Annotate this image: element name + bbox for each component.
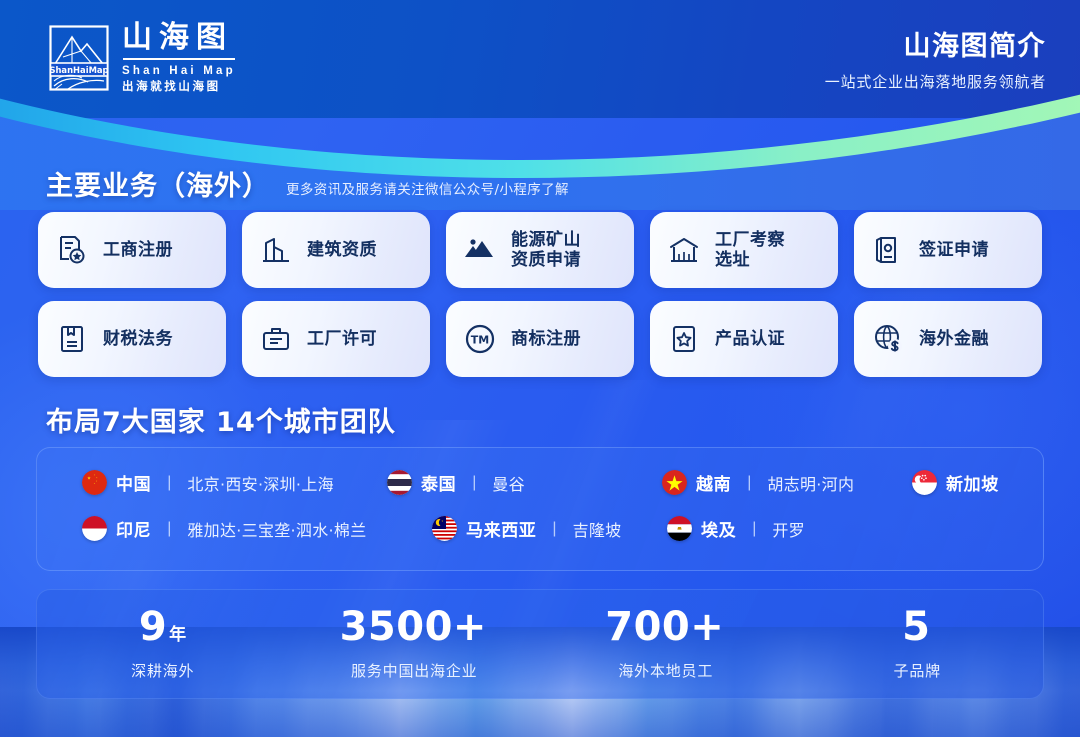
flag-china-icon — [82, 470, 107, 495]
country-row: 印尼 | 雅加达·三宝垄·泗水·棉兰 — [82, 516, 805, 541]
flag-singapore-icon — [912, 470, 937, 495]
country-separator: | — [752, 520, 756, 538]
stat-item-clients: 3500+ 服务中国出海企业 — [289, 607, 541, 681]
flag-indonesia-icon — [82, 516, 107, 541]
service-card-energy-mining-qualification[interactable]: 能源矿山 资质申请 — [446, 212, 634, 288]
service-card-tax-legal[interactable]: 财税法务 — [38, 301, 226, 377]
service-card-label: 财税法务 — [103, 329, 173, 349]
stat-number: 9年 — [37, 607, 289, 647]
service-card-label: 产品认证 — [715, 329, 785, 349]
service-card-trademark-registration[interactable]: TM 商标注册 — [446, 301, 634, 377]
service-card-label: 签证申请 — [919, 240, 989, 260]
services-section-header: 主要业务（海外） 更多资讯及服务请关注微信公众号/小程序了解 — [46, 164, 569, 203]
service-card-label: 商标注册 — [511, 329, 581, 349]
country-name: 新加坡 — [946, 470, 999, 495]
flag-vietnam-icon — [662, 470, 687, 495]
presence-title: 布局7大国家 14个城市团队 — [46, 400, 396, 439]
country-name: 马来西亚 — [466, 516, 536, 541]
country-separator: | — [472, 474, 476, 492]
service-card-factory-inspection-siting[interactable]: 工厂考察 选址 — [650, 212, 838, 288]
service-card-label: 工厂考察 选址 — [715, 230, 785, 270]
license-card-icon — [258, 321, 294, 357]
services-title: 主要业务（海外） — [46, 164, 270, 203]
globe-dollar-icon — [870, 321, 906, 357]
service-card-product-certification[interactable]: 产品认证 — [650, 301, 838, 377]
country-cities: 开罗 — [772, 517, 805, 541]
ledger-book-icon — [54, 321, 90, 357]
service-card-business-registration[interactable]: 工商注册 — [38, 212, 226, 288]
passport-id-icon — [870, 232, 906, 268]
service-card-construction-qualification[interactable]: 建筑资质 — [242, 212, 430, 288]
page-content: 主要业务（海外） 更多资讯及服务请关注微信公众号/小程序了解 工商注册 — [0, 0, 1080, 737]
country-row: 中国 | 北京·西安·深圳·上海 泰国 — [82, 470, 999, 495]
country-name: 埃及 — [701, 516, 736, 541]
stat-unit: 年 — [169, 625, 187, 645]
country-cities: 胡志明·河内 — [767, 471, 854, 495]
stat-number: 5 — [792, 607, 1044, 647]
stats-panel: 9年 深耕海外 3500+ 服务中国出海企业 700+ 海外本地员工 5 子品牌 — [36, 589, 1044, 699]
country-separator: | — [167, 520, 171, 538]
country-item-thailand[interactable]: 泰国 | 曼谷 — [387, 470, 662, 495]
country-cities: 北京·西安·深圳·上海 — [187, 471, 334, 495]
stat-label: 服务中国出海企业 — [289, 660, 541, 681]
stat-item-subbrands: 5 子品牌 — [792, 607, 1044, 681]
country-item-vietnam[interactable]: 越南 | 胡志明·河内 — [662, 470, 912, 495]
stat-item-staff: 700+ 海外本地员工 — [540, 607, 792, 681]
countries-panel: 中国 | 北京·西安·深圳·上海 泰国 — [36, 447, 1044, 571]
country-cities: 曼谷 — [492, 471, 525, 495]
service-card-label: 海外金融 — [919, 329, 989, 349]
flag-egypt-icon — [667, 516, 692, 541]
stat-label: 子品牌 — [792, 660, 1044, 681]
flag-thailand-icon — [387, 470, 412, 495]
country-item-singapore[interactable]: 新加坡 — [912, 470, 999, 495]
stat-item-years: 9年 深耕海外 — [37, 607, 289, 681]
country-item-indonesia[interactable]: 印尼 | 雅加达·三宝垄·泗水·棉兰 — [82, 516, 432, 541]
country-separator: | — [747, 474, 751, 492]
service-card-factory-permit[interactable]: 工厂许可 — [242, 301, 430, 377]
country-cities: 雅加达·三宝垄·泗水·棉兰 — [187, 517, 366, 541]
service-card-label: 建筑资质 — [307, 240, 377, 260]
certificate-star-frame-icon — [666, 321, 702, 357]
stat-number: 700+ — [540, 607, 792, 647]
service-card-label: 工厂许可 — [307, 329, 377, 349]
service-card-visa-application[interactable]: 签证申请 — [854, 212, 1042, 288]
services-note: 更多资讯及服务请关注微信公众号/小程序了解 — [286, 178, 569, 203]
stat-number: 3500+ — [289, 607, 541, 647]
presence-section-header: 布局7大国家 14个城市团队 — [46, 400, 396, 439]
country-name: 中国 — [116, 470, 151, 495]
service-card-label: 工商注册 — [103, 240, 173, 260]
country-separator: | — [167, 474, 171, 492]
factory-house-icon — [666, 232, 702, 268]
mountain-icon — [462, 232, 498, 268]
flag-malaysia-icon — [432, 516, 457, 541]
stat-label: 深耕海外 — [37, 660, 289, 681]
svg-text:TM: TM — [471, 334, 489, 347]
country-name: 泰国 — [421, 470, 456, 495]
country-cities: 吉隆坡 — [573, 517, 622, 541]
trademark-tm-icon: TM — [462, 321, 498, 357]
service-card-grid: 工商注册 建筑资质 能源矿山 资质申请 — [38, 212, 1042, 377]
country-name: 印尼 — [116, 516, 151, 541]
country-name: 越南 — [696, 470, 731, 495]
country-item-china[interactable]: 中国 | 北京·西安·深圳·上海 — [82, 470, 387, 495]
service-card-overseas-finance[interactable]: 海外金融 — [854, 301, 1042, 377]
country-separator: | — [552, 520, 556, 538]
country-item-egypt[interactable]: 埃及 | 开罗 — [667, 516, 805, 541]
stat-label: 海外本地员工 — [540, 660, 792, 681]
building-icon — [258, 232, 294, 268]
country-item-malaysia[interactable]: 马来西亚 | 吉隆坡 — [432, 516, 667, 541]
certificate-star-icon — [54, 232, 90, 268]
service-card-label: 能源矿山 资质申请 — [511, 230, 581, 270]
